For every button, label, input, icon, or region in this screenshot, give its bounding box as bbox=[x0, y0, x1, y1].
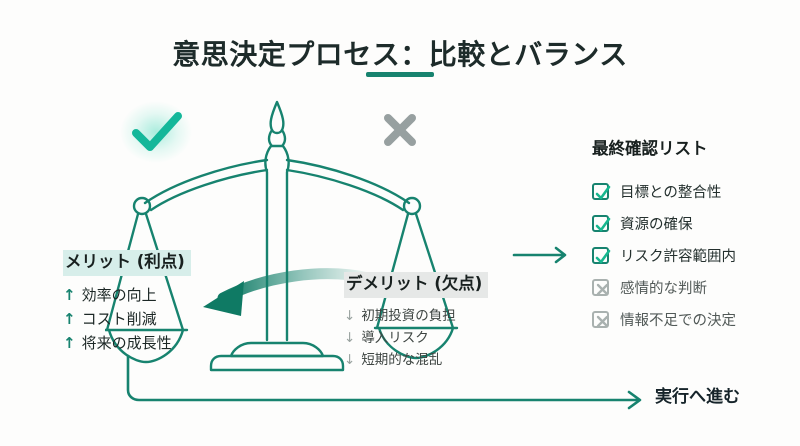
checkbox-checked-icon[interactable] bbox=[592, 183, 609, 200]
list-item: ↑ コスト削減 bbox=[63, 309, 238, 329]
page-title: 意思決定プロセス：比較とバランス bbox=[0, 33, 800, 73]
flow-label: 実行へ進む bbox=[655, 382, 740, 407]
up-arrow-icon: ↑ bbox=[63, 309, 76, 329]
flow-connector-arrow bbox=[120, 352, 660, 412]
list-item-label: 導入リスク bbox=[361, 329, 429, 347]
list-item: ↓ 導入リスク bbox=[344, 329, 514, 347]
connector-arrow-right-icon bbox=[512, 244, 578, 266]
up-arrow-icon: ↑ bbox=[63, 285, 76, 305]
up-arrow-icon: ↑ bbox=[63, 333, 76, 353]
list-item: ↓ 初期投資の負担 bbox=[344, 307, 514, 325]
list-item-label: 将来の成長性 bbox=[82, 333, 172, 353]
list-item-label: 情報不足での決定 bbox=[620, 309, 736, 330]
merits-heading: メリット (利点) bbox=[63, 250, 191, 276]
list-item-label: 目標との整合性 bbox=[620, 181, 721, 202]
list-item-label: 資源の確保 bbox=[620, 213, 693, 234]
check-mark-icon bbox=[118, 100, 196, 168]
list-item[interactable]: リスク許容範囲内 bbox=[592, 239, 792, 271]
checkbox-checked-icon[interactable] bbox=[592, 215, 609, 232]
list-item-label: 感情的な判断 bbox=[620, 277, 707, 298]
merits-list: ↑ 効率の向上 ↑ コスト削減 ↑ 将来の成長性 bbox=[63, 285, 238, 354]
title-underline bbox=[366, 72, 434, 77]
list-item[interactable]: 資源の確保 bbox=[592, 207, 792, 239]
list-item[interactable]: 目標との整合性 bbox=[592, 175, 792, 207]
list-item-label: リスク許容範囲内 bbox=[620, 245, 736, 266]
checklist-block: 最終確認リスト 目標との整合性 資源の確保 リスク bbox=[592, 135, 792, 335]
checklist-title: 最終確認リスト bbox=[592, 135, 792, 159]
checkbox-excluded-icon[interactable] bbox=[592, 311, 609, 328]
list-item[interactable]: 情報不足での決定 bbox=[592, 303, 792, 335]
checkbox-excluded-icon[interactable] bbox=[592, 279, 609, 296]
list-item: ↑ 将来の成長性 bbox=[63, 333, 238, 353]
down-arrow-icon: ↓ bbox=[344, 307, 355, 325]
list-item: ↑ 効率の向上 bbox=[63, 285, 238, 305]
cross-mark-icon bbox=[378, 108, 422, 152]
list-item[interactable]: 感情的な判断 bbox=[592, 271, 792, 303]
list-item-label: 効率の向上 bbox=[82, 285, 157, 305]
diagram-canvas: 意思決定プロセス：比較とバランス bbox=[0, 0, 800, 446]
demerits-heading: デメリット (欠点) bbox=[344, 272, 488, 298]
list-item-label: 初期投資の負担 bbox=[361, 307, 456, 325]
down-arrow-icon: ↓ bbox=[344, 329, 355, 347]
list-item-label: コスト削減 bbox=[82, 309, 157, 329]
checkbox-checked-icon[interactable] bbox=[592, 247, 609, 264]
merits-block: メリット (利点) ↑ 効率の向上 ↑ コスト削減 ↑ 将来の成長性 bbox=[63, 250, 238, 357]
